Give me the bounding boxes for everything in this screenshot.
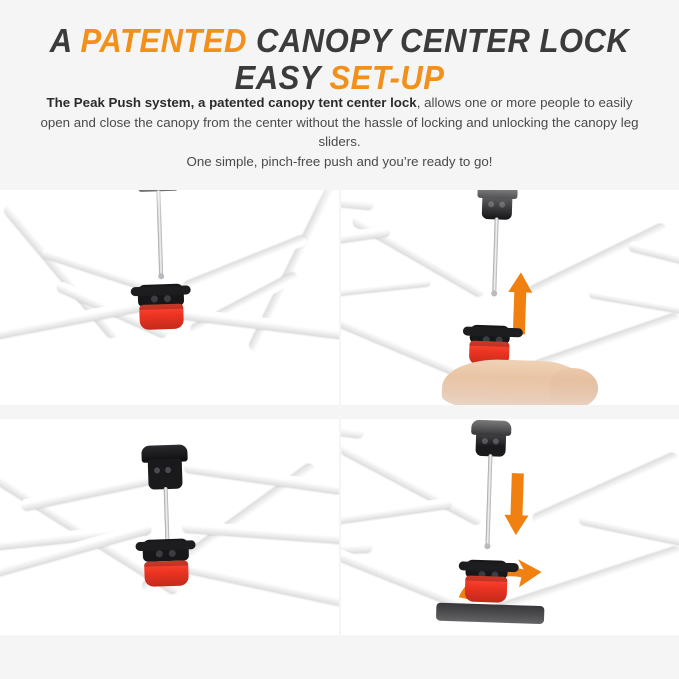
panel3-photo-plate xyxy=(0,419,339,635)
headline-block: A PATENTED CANOPY CENTER LOCK EASY SET-U… xyxy=(0,22,679,96)
panel1-photo-plate xyxy=(0,190,339,405)
panel-grid xyxy=(0,190,679,635)
frame-tube-lower-right xyxy=(182,561,339,613)
hub-red-base xyxy=(139,304,184,330)
body-paragraph: The Peak Push system, a patented canopy … xyxy=(36,93,643,152)
promo-page: A PATENTED CANOPY CENTER LOCK EASY SET-U… xyxy=(0,0,679,679)
frame-tube-upper-right xyxy=(183,461,339,495)
headline-line2-pre: EASY xyxy=(235,59,330,96)
center-rod xyxy=(485,454,492,546)
frame-tube-mid-left xyxy=(341,277,431,300)
headline-line2-accent: SET-UP xyxy=(329,59,444,96)
center-rod xyxy=(492,217,499,293)
body-closing: One simple, pinch-free push and you’re r… xyxy=(36,152,643,172)
frame-tube-upper-right xyxy=(528,222,668,299)
panel2-photo-plate xyxy=(341,190,679,405)
panel-pull-down xyxy=(341,419,679,635)
hand-right-finger-1 xyxy=(491,615,511,635)
frame-tube-upper-right xyxy=(531,451,679,526)
hub-red-base xyxy=(465,576,508,603)
headline-line-2: EASY SET-UP xyxy=(20,59,658,96)
arrow-down-icon xyxy=(503,473,531,536)
headline-line-1: A PATENTED CANOPY CENTER LOCK xyxy=(20,22,658,59)
frame-tube-edge-left xyxy=(341,191,375,211)
body-bold-lead: The Peak Push system, a patented canopy … xyxy=(46,95,416,110)
panel2-photo xyxy=(341,190,679,405)
panel4-photo xyxy=(341,419,679,635)
frame-tube-span-right xyxy=(628,240,679,275)
frame-tube-mid-left xyxy=(341,497,452,530)
panel-extended xyxy=(0,419,339,635)
frame-tube-upper-left xyxy=(20,470,165,512)
hand-open-palm xyxy=(441,358,593,405)
hand-left-finger-2 xyxy=(462,613,485,635)
hub-spider-top xyxy=(142,538,189,562)
panel-push-up xyxy=(341,190,679,405)
upper-hub-body xyxy=(148,459,183,490)
headline-line1-pre: A xyxy=(50,22,81,59)
upper-hub-cap xyxy=(477,190,517,199)
frame-tube-edge-left xyxy=(341,419,365,439)
headline-line1-post: CANOPY CENTER LOCK xyxy=(247,22,629,59)
panel1-photo xyxy=(0,190,339,405)
arrow-up-icon xyxy=(506,272,534,335)
hub-red-base xyxy=(144,560,189,586)
body-copy: The Peak Push system, a patented canopy … xyxy=(36,93,643,171)
headline-line1-accent: PATENTED xyxy=(81,22,247,59)
panel4-photo-plate xyxy=(341,419,679,635)
upper-hub-cap xyxy=(471,420,511,436)
panel3-photo xyxy=(0,419,339,635)
panel-collapsed-top-view xyxy=(0,190,339,405)
center-rod xyxy=(156,190,163,276)
